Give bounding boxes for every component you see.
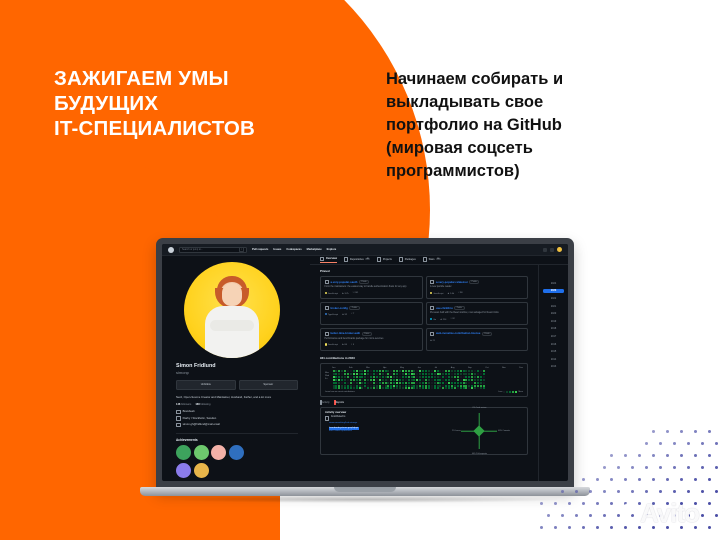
contribution-cell[interactable] bbox=[396, 373, 398, 375]
contribution-cell[interactable] bbox=[416, 373, 418, 375]
contribution-cell[interactable] bbox=[439, 387, 441, 389]
contribution-cell[interactable] bbox=[333, 382, 335, 384]
pinned-repo-name[interactable]: broker-config bbox=[330, 307, 347, 310]
contribution-cell[interactable] bbox=[385, 376, 387, 378]
contribution-cell[interactable] bbox=[390, 370, 392, 372]
contribution-cell[interactable] bbox=[483, 370, 485, 372]
contribution-cell[interactable] bbox=[402, 370, 404, 372]
contribution-cell[interactable] bbox=[474, 382, 476, 384]
contribution-cell[interactable] bbox=[457, 373, 459, 375]
contribution-cell[interactable] bbox=[402, 385, 404, 387]
nav-pull-requests[interactable]: Pull requests bbox=[252, 248, 268, 251]
contribution-cell[interactable] bbox=[353, 385, 355, 387]
contribution-cell[interactable] bbox=[483, 376, 485, 378]
contribution-cell[interactable] bbox=[460, 376, 462, 378]
contribution-cell[interactable] bbox=[399, 387, 401, 389]
contribution-cell[interactable] bbox=[439, 379, 441, 381]
contribution-cell[interactable] bbox=[437, 382, 439, 384]
contribution-cell[interactable] bbox=[465, 387, 467, 389]
contribution-cell[interactable] bbox=[445, 376, 447, 378]
contribution-cell[interactable] bbox=[350, 387, 352, 389]
contribution-cell[interactable] bbox=[419, 379, 421, 381]
contribution-cell[interactable] bbox=[413, 370, 415, 372]
pinned-repo-card[interactable]: better-time-broker-auth Public Performan… bbox=[320, 328, 423, 351]
contribution-cell[interactable] bbox=[425, 387, 427, 389]
contribution-cell[interactable] bbox=[370, 376, 372, 378]
achievement-badge[interactable] bbox=[194, 445, 209, 460]
contribution-cell[interactable] bbox=[393, 370, 395, 372]
contribution-cell[interactable] bbox=[376, 379, 378, 381]
contribution-cell[interactable] bbox=[480, 379, 482, 381]
contribution-cell[interactable] bbox=[359, 379, 361, 381]
contribution-cell[interactable] bbox=[405, 387, 407, 389]
contribution-cell[interactable] bbox=[335, 376, 337, 378]
contribution-cell[interactable] bbox=[465, 385, 467, 387]
contribution-cell[interactable] bbox=[367, 382, 369, 384]
contribution-cell[interactable] bbox=[387, 387, 389, 389]
contribution-cell[interactable] bbox=[451, 387, 453, 389]
contribution-cell[interactable] bbox=[390, 379, 392, 381]
contribution-cell[interactable] bbox=[399, 379, 401, 381]
contribution-cell[interactable] bbox=[471, 387, 473, 389]
contribution-cell[interactable] bbox=[402, 387, 404, 389]
contribution-cell[interactable] bbox=[463, 370, 465, 372]
contribution-cell[interactable] bbox=[448, 376, 450, 378]
contribution-cell[interactable] bbox=[465, 382, 467, 384]
contribution-cell[interactable] bbox=[367, 387, 369, 389]
contribution-cell[interactable] bbox=[376, 382, 378, 384]
contribution-cell[interactable] bbox=[460, 382, 462, 384]
contribution-cell[interactable] bbox=[439, 385, 441, 387]
contribution-cell[interactable] bbox=[353, 373, 355, 375]
contribution-cell[interactable] bbox=[387, 370, 389, 372]
contribution-cell[interactable] bbox=[356, 387, 358, 389]
contribution-cell[interactable] bbox=[413, 382, 415, 384]
contribution-cell[interactable] bbox=[338, 373, 340, 375]
contribution-cell[interactable] bbox=[416, 370, 418, 372]
contribution-cell[interactable] bbox=[361, 387, 363, 389]
contribution-cell[interactable] bbox=[457, 385, 459, 387]
year-option[interactable]: 2017 bbox=[543, 334, 564, 339]
contribution-cell[interactable] bbox=[370, 370, 372, 372]
contribution-cell[interactable] bbox=[437, 370, 439, 372]
contribution-cell[interactable] bbox=[350, 382, 352, 384]
contribution-cell[interactable] bbox=[457, 376, 459, 378]
following-stat[interactable]: 168 following bbox=[195, 403, 210, 406]
contribution-cell[interactable] bbox=[387, 379, 389, 381]
contribution-cell[interactable] bbox=[402, 382, 404, 384]
contribution-cell[interactable] bbox=[413, 373, 415, 375]
contribution-cell[interactable] bbox=[460, 385, 462, 387]
contribution-cell[interactable] bbox=[460, 373, 462, 375]
contribution-cell[interactable] bbox=[396, 379, 398, 381]
contribution-cell[interactable] bbox=[373, 376, 375, 378]
contribution-cell[interactable] bbox=[364, 373, 366, 375]
contribution-cell[interactable] bbox=[402, 376, 404, 378]
contribution-cell[interactable] bbox=[347, 379, 349, 381]
contribution-cell[interactable] bbox=[445, 373, 447, 375]
contribution-cell[interactable] bbox=[393, 385, 395, 387]
contribution-cell[interactable] bbox=[408, 370, 410, 372]
contribution-cell[interactable] bbox=[422, 370, 424, 372]
contribution-cell[interactable] bbox=[480, 382, 482, 384]
contribution-cell[interactable] bbox=[350, 385, 352, 387]
contribution-cell[interactable] bbox=[468, 382, 470, 384]
contribution-cell[interactable] bbox=[411, 385, 413, 387]
avatar[interactable] bbox=[557, 247, 562, 252]
contribution-cell[interactable] bbox=[396, 370, 398, 372]
pinned-repo-name[interactable]: a-very-popular-oauth bbox=[330, 281, 357, 284]
contribution-cell[interactable] bbox=[373, 382, 375, 384]
nav-issues[interactable]: Issues bbox=[273, 248, 281, 251]
contribution-cell[interactable] bbox=[399, 385, 401, 387]
contribution-cell[interactable] bbox=[405, 376, 407, 378]
contribution-cell[interactable] bbox=[460, 387, 462, 389]
contribution-cell[interactable] bbox=[454, 385, 456, 387]
tab-packages[interactable]: Packages bbox=[399, 257, 416, 262]
contribution-cell[interactable] bbox=[356, 379, 358, 381]
pinned-repo-card[interactable]: web-monetize-contribution-license Public… bbox=[426, 328, 529, 351]
contribution-cell[interactable] bbox=[387, 373, 389, 375]
contribution-cell[interactable] bbox=[428, 385, 430, 387]
notifications-icon[interactable] bbox=[543, 248, 547, 252]
year-option[interactable]: 2015 bbox=[543, 349, 564, 354]
contribution-cell[interactable] bbox=[434, 376, 436, 378]
contribution-cell[interactable] bbox=[480, 385, 482, 387]
contribution-cell[interactable] bbox=[477, 376, 479, 378]
contribution-cell[interactable] bbox=[474, 370, 476, 372]
contribution-cell[interactable] bbox=[448, 379, 450, 381]
contribution-cell[interactable] bbox=[402, 373, 404, 375]
year-option[interactable]: 2022 bbox=[543, 296, 564, 301]
contribution-cell[interactable] bbox=[471, 370, 473, 372]
contribution-cell[interactable] bbox=[425, 382, 427, 384]
contribution-cell[interactable] bbox=[399, 376, 401, 378]
pinned-repo-name[interactable]: use-clickthru bbox=[436, 307, 453, 310]
contribution-cell[interactable] bbox=[483, 379, 485, 381]
contribution-cell[interactable] bbox=[408, 382, 410, 384]
contribution-cell[interactable] bbox=[477, 385, 479, 387]
year-option[interactable]: 2013 bbox=[543, 365, 564, 370]
achievement-badge[interactable] bbox=[211, 445, 226, 460]
contribution-cell[interactable] bbox=[471, 385, 473, 387]
contribution-cell[interactable] bbox=[359, 387, 361, 389]
contribution-cell[interactable] bbox=[442, 385, 444, 387]
contribution-cell[interactable] bbox=[356, 376, 358, 378]
contribution-cell[interactable] bbox=[425, 370, 427, 372]
contribution-cell[interactable] bbox=[419, 385, 421, 387]
contribution-cell[interactable] bbox=[416, 387, 418, 389]
contribution-cell[interactable] bbox=[344, 379, 346, 381]
activity-repo-link[interactable]: simonsomething/hub-storage bbox=[329, 422, 436, 425]
contribution-cell[interactable] bbox=[457, 379, 459, 381]
contribution-cell[interactable] bbox=[422, 376, 424, 378]
contribution-cell[interactable] bbox=[367, 370, 369, 372]
contribution-cell[interactable] bbox=[379, 370, 381, 372]
contribution-cell[interactable] bbox=[367, 385, 369, 387]
contribution-cell[interactable] bbox=[422, 382, 424, 384]
contribution-cell[interactable] bbox=[405, 379, 407, 381]
contribution-cell[interactable] bbox=[344, 373, 346, 375]
contribution-cell[interactable] bbox=[431, 385, 433, 387]
pinned-repo-card[interactable]: a-very-popular-related-ui Public A new p… bbox=[426, 276, 529, 299]
contribution-cell[interactable] bbox=[379, 382, 381, 384]
contribution-cell[interactable] bbox=[379, 379, 381, 381]
contribution-cell[interactable] bbox=[333, 385, 335, 387]
contribution-cell[interactable] bbox=[465, 370, 467, 372]
contribution-cell[interactable] bbox=[483, 385, 485, 387]
contribution-cell[interactable] bbox=[465, 379, 467, 381]
contribution-cell[interactable] bbox=[405, 385, 407, 387]
achievement-badge[interactable] bbox=[194, 463, 209, 478]
contribution-cell[interactable] bbox=[341, 376, 343, 378]
nav-codespaces[interactable]: Codespaces bbox=[286, 248, 301, 251]
contribution-cell[interactable] bbox=[353, 379, 355, 381]
tab-projects[interactable]: Projects bbox=[377, 257, 392, 262]
contribution-cell[interactable] bbox=[385, 373, 387, 375]
contribution-cell[interactable] bbox=[364, 387, 366, 389]
sponsor-button[interactable]: Sponsor bbox=[239, 380, 299, 390]
contribution-cell[interactable] bbox=[457, 382, 459, 384]
contribution-cell[interactable] bbox=[428, 382, 430, 384]
year-option[interactable]: 2016 bbox=[543, 342, 564, 347]
contribution-cell[interactable] bbox=[416, 376, 418, 378]
contribution-cell[interactable] bbox=[451, 382, 453, 384]
contribution-cell[interactable] bbox=[413, 387, 415, 389]
contribution-cell[interactable] bbox=[468, 376, 470, 378]
contribution-cell[interactable] bbox=[442, 376, 444, 378]
contribution-cell[interactable] bbox=[356, 370, 358, 372]
contribution-cell[interactable] bbox=[425, 385, 427, 387]
contribution-cell[interactable] bbox=[439, 373, 441, 375]
learn-contributions-link[interactable]: Learn how we count contributions bbox=[325, 391, 355, 393]
contribution-cell[interactable] bbox=[387, 376, 389, 378]
contribution-cell[interactable] bbox=[439, 382, 441, 384]
contribution-cell[interactable] bbox=[468, 373, 470, 375]
tab-stars[interactable]: Stars 36 bbox=[423, 257, 441, 262]
contribution-cell[interactable] bbox=[341, 382, 343, 384]
contribution-cell[interactable] bbox=[333, 376, 335, 378]
contribution-cell[interactable] bbox=[344, 370, 346, 372]
pinned-repo-card[interactable]: a-very-popular-oauth Public From the mai… bbox=[320, 276, 423, 299]
contribution-cell[interactable] bbox=[428, 370, 430, 372]
contribution-cell[interactable] bbox=[465, 376, 467, 378]
contribution-cell[interactable] bbox=[359, 376, 361, 378]
contribution-cell[interactable] bbox=[411, 379, 413, 381]
contribution-cell[interactable] bbox=[344, 376, 346, 378]
contribution-cell[interactable] bbox=[460, 370, 462, 372]
contribution-cell[interactable] bbox=[451, 370, 453, 372]
contribution-cell[interactable] bbox=[431, 379, 433, 381]
contribution-cell[interactable] bbox=[364, 376, 366, 378]
contribution-cell[interactable] bbox=[382, 370, 384, 372]
contribution-cell[interactable] bbox=[442, 382, 444, 384]
contribution-cell[interactable] bbox=[425, 376, 427, 378]
contribution-cell[interactable] bbox=[402, 379, 404, 381]
contribution-cell[interactable] bbox=[390, 373, 392, 375]
contribution-cell[interactable] bbox=[376, 385, 378, 387]
contribution-cell[interactable] bbox=[359, 382, 361, 384]
contribution-cell[interactable] bbox=[396, 382, 398, 384]
contribution-cell[interactable] bbox=[434, 385, 436, 387]
contribution-cell[interactable] bbox=[437, 379, 439, 381]
contribution-cell[interactable] bbox=[373, 387, 375, 389]
tab-reports[interactable]: Reports bbox=[334, 401, 344, 404]
contribution-cell[interactable] bbox=[463, 379, 465, 381]
contribution-cell[interactable] bbox=[353, 382, 355, 384]
contribution-cell[interactable] bbox=[454, 373, 456, 375]
contribution-cell[interactable] bbox=[463, 382, 465, 384]
contribution-cell[interactable] bbox=[344, 382, 346, 384]
contribution-cell[interactable] bbox=[471, 373, 473, 375]
contribution-cell[interactable] bbox=[431, 387, 433, 389]
contribution-cell[interactable] bbox=[411, 373, 413, 375]
contribution-cell[interactable] bbox=[390, 376, 392, 378]
contribution-cell[interactable] bbox=[370, 385, 372, 387]
contribution-cell[interactable] bbox=[477, 387, 479, 389]
contribution-cell[interactable] bbox=[353, 376, 355, 378]
contribution-cell[interactable] bbox=[350, 376, 352, 378]
contribution-cell[interactable] bbox=[445, 370, 447, 372]
contribution-cell[interactable] bbox=[483, 382, 485, 384]
contribution-cell[interactable] bbox=[356, 382, 358, 384]
contribution-cell[interactable] bbox=[382, 379, 384, 381]
year-option[interactable]: 2014 bbox=[543, 357, 564, 362]
contribution-cell[interactable] bbox=[416, 379, 418, 381]
contribution-cell[interactable] bbox=[359, 385, 361, 387]
tab-repositories[interactable]: Repositories 48 bbox=[344, 257, 370, 262]
contribution-cell[interactable] bbox=[457, 370, 459, 372]
nav-explore[interactable]: Explore bbox=[327, 248, 337, 251]
contribution-cell[interactable] bbox=[434, 379, 436, 381]
contribution-cell[interactable] bbox=[390, 385, 392, 387]
contribution-cell[interactable] bbox=[408, 385, 410, 387]
contribution-cell[interactable] bbox=[437, 376, 439, 378]
contribution-cell[interactable] bbox=[451, 379, 453, 381]
contribution-cell[interactable] bbox=[448, 370, 450, 372]
contribution-cell[interactable] bbox=[341, 379, 343, 381]
pinned-repo-card[interactable]: broker-config Public TypeScript ★ 92 ⑂ 7 bbox=[320, 302, 423, 325]
contribution-cell[interactable] bbox=[387, 382, 389, 384]
contribution-cell[interactable] bbox=[350, 373, 352, 375]
contribution-cell[interactable] bbox=[445, 382, 447, 384]
contribution-cell[interactable] bbox=[428, 379, 430, 381]
contribution-cell[interactable] bbox=[448, 382, 450, 384]
contribution-cell[interactable] bbox=[361, 382, 363, 384]
contribution-cell[interactable] bbox=[370, 379, 372, 381]
contribution-cell[interactable] bbox=[411, 376, 413, 378]
contribution-cell[interactable] bbox=[408, 376, 410, 378]
contribution-cell[interactable] bbox=[353, 387, 355, 389]
contribution-cell[interactable] bbox=[468, 385, 470, 387]
contribution-cell[interactable] bbox=[411, 387, 413, 389]
contribution-cell[interactable] bbox=[338, 376, 340, 378]
year-option[interactable]: 2021 bbox=[543, 304, 564, 309]
contribution-cell[interactable] bbox=[451, 373, 453, 375]
contribution-cell[interactable] bbox=[463, 387, 465, 389]
pinned-repo-name[interactable]: better-time-broker-auth bbox=[330, 332, 360, 335]
contribution-cell[interactable] bbox=[364, 382, 366, 384]
pinned-repo-card[interactable]: use-clickthru Public Previews built with… bbox=[426, 302, 529, 325]
contribution-cell[interactable] bbox=[474, 387, 476, 389]
contribution-cell[interactable] bbox=[477, 382, 479, 384]
year-option[interactable]: 2019 bbox=[543, 319, 564, 324]
contribution-cell[interactable] bbox=[338, 385, 340, 387]
contribution-cell[interactable] bbox=[425, 373, 427, 375]
contribution-cell[interactable] bbox=[390, 387, 392, 389]
contribution-cell[interactable] bbox=[370, 382, 372, 384]
achievement-badge[interactable] bbox=[176, 463, 191, 478]
contribution-cell[interactable] bbox=[338, 379, 340, 381]
contribution-cell[interactable] bbox=[442, 370, 444, 372]
contribution-cell[interactable] bbox=[364, 385, 366, 387]
contribution-cell[interactable] bbox=[335, 379, 337, 381]
contribution-cell[interactable] bbox=[419, 376, 421, 378]
contribution-cell[interactable] bbox=[413, 379, 415, 381]
contribution-cell[interactable] bbox=[454, 382, 456, 384]
contribution-cell[interactable] bbox=[364, 379, 366, 381]
contribution-cell[interactable] bbox=[341, 373, 343, 375]
contribution-cell[interactable] bbox=[442, 373, 444, 375]
contribution-cell[interactable] bbox=[373, 379, 375, 381]
contribution-cell[interactable] bbox=[471, 379, 473, 381]
contribution-cell[interactable] bbox=[483, 387, 485, 389]
contribution-cell[interactable] bbox=[379, 385, 381, 387]
contribution-cell[interactable] bbox=[399, 373, 401, 375]
contribution-cell[interactable] bbox=[385, 385, 387, 387]
contribution-cell[interactable] bbox=[419, 387, 421, 389]
contribution-cell[interactable] bbox=[387, 385, 389, 387]
contribution-cell[interactable] bbox=[361, 373, 363, 375]
contribution-cell[interactable] bbox=[437, 387, 439, 389]
contribution-cell[interactable] bbox=[333, 370, 335, 372]
contribution-cell[interactable] bbox=[373, 370, 375, 372]
contribution-cell[interactable] bbox=[385, 379, 387, 381]
contribution-cell[interactable] bbox=[347, 387, 349, 389]
contribution-cell[interactable] bbox=[463, 373, 465, 375]
contribution-cell[interactable] bbox=[405, 373, 407, 375]
contribution-cell[interactable] bbox=[367, 373, 369, 375]
year-option[interactable]: 2018 bbox=[543, 327, 564, 332]
contribution-cell[interactable] bbox=[347, 385, 349, 387]
contribution-cell[interactable] bbox=[356, 373, 358, 375]
plus-icon[interactable] bbox=[550, 248, 554, 252]
contribution-cell[interactable] bbox=[422, 379, 424, 381]
contribution-cell[interactable] bbox=[347, 382, 349, 384]
contribution-cell[interactable] bbox=[382, 385, 384, 387]
contribution-cell[interactable] bbox=[413, 376, 415, 378]
contribution-cell[interactable] bbox=[408, 387, 410, 389]
year-option[interactable]: 2024 bbox=[543, 281, 564, 286]
contribution-cell[interactable] bbox=[370, 387, 372, 389]
contribution-cell[interactable] bbox=[422, 385, 424, 387]
contribution-cell[interactable] bbox=[465, 373, 467, 375]
contribution-cell[interactable] bbox=[474, 379, 476, 381]
contribution-cell[interactable] bbox=[411, 382, 413, 384]
contribution-cell[interactable] bbox=[333, 387, 335, 389]
contribution-cell[interactable] bbox=[341, 370, 343, 372]
contribution-cell[interactable] bbox=[448, 373, 450, 375]
contribution-cell[interactable] bbox=[376, 387, 378, 389]
contribution-cell[interactable] bbox=[419, 382, 421, 384]
contribution-cell[interactable] bbox=[463, 376, 465, 378]
contribution-cell[interactable] bbox=[382, 373, 384, 375]
contribution-cell[interactable] bbox=[335, 370, 337, 372]
contribution-cell[interactable] bbox=[335, 387, 337, 389]
contribution-cell[interactable] bbox=[428, 387, 430, 389]
contribution-cell[interactable] bbox=[439, 370, 441, 372]
contribution-cell[interactable] bbox=[385, 387, 387, 389]
